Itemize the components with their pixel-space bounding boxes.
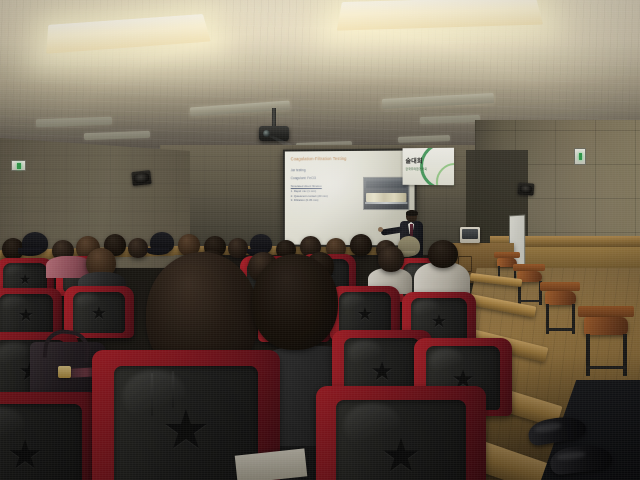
- slide-list-item-3: 3. Filtration (0.45 mm): [291, 198, 363, 202]
- handbag-clasp: [58, 366, 71, 378]
- seat-back-panel: ★: [339, 292, 391, 335]
- star-emblem: ★: [91, 304, 107, 322]
- presenter-hand: [378, 227, 383, 232]
- projector-lens-icon: [263, 130, 270, 137]
- presenter-hair: [406, 210, 418, 216]
- chair-rail: [546, 328, 575, 331]
- exit-sign-glow: [17, 163, 21, 169]
- presenter-tie: [410, 224, 413, 236]
- seat-back-panel: ★: [336, 400, 466, 480]
- projector-mount-pole: [272, 108, 276, 128]
- audience-member: [378, 246, 404, 272]
- emergency-exit-sign-right: [574, 148, 586, 165]
- lecture-hall-photo: Coagulation-Filtration Testing Jar testi…: [0, 0, 640, 480]
- chair-seat: [584, 317, 628, 335]
- slide-title-rule: [291, 162, 394, 163]
- emergency-exit-sign-left: [11, 160, 26, 171]
- chair-tablet-arm: [540, 282, 580, 291]
- wall-mounted-speaker-left: [131, 170, 151, 186]
- star-emblem: ★: [431, 312, 447, 330]
- wall-mounted-speaker-right: [518, 182, 535, 195]
- chair-leg: [623, 334, 627, 376]
- seat-back-panel: ★: [0, 404, 82, 480]
- audience-member: [350, 234, 372, 256]
- slide-photo-jars: [366, 193, 406, 202]
- star-emblem: ★: [19, 272, 32, 286]
- slide-list-header: Simulated direct filtration: [291, 184, 363, 188]
- chair-seat: [545, 291, 576, 305]
- slide-body: Jar testing Coagulant: FeCl3 Simulated d…: [291, 168, 363, 202]
- audience-member: [250, 234, 272, 254]
- audience-member: [22, 232, 48, 254]
- chair-rail: [518, 300, 541, 302]
- slide-title: Coagulation-Filtration Testing: [291, 156, 409, 162]
- chair-leg: [586, 334, 590, 376]
- banner-title: 술대회: [405, 156, 422, 165]
- auditorium-seat-foreground-left: ★: [0, 392, 100, 480]
- conference-banner: 술대회 한국우리환경학회: [403, 148, 455, 185]
- star-emblem: ★: [18, 306, 34, 324]
- seat-back-panel: ★: [0, 294, 53, 335]
- chair-tablet-arm: [513, 264, 545, 271]
- foreground-audience-member-2: [252, 254, 338, 350]
- slide-line-1: Jar testing: [291, 168, 363, 173]
- auditorium-seat-foreground-right: ★: [316, 386, 486, 480]
- audience-member: [128, 238, 148, 258]
- star-emblem: ★: [357, 305, 373, 323]
- slide-line-2: Coagulant: FeCl3: [291, 176, 363, 181]
- audience-member: [428, 240, 458, 268]
- audience-member: [228, 238, 248, 258]
- audience-member: [150, 232, 174, 253]
- chair-tablet-arm: [578, 306, 634, 317]
- exit-sign-glow: [579, 153, 582, 160]
- crt-monitor: [460, 227, 480, 243]
- slide-photo-apparatus-bar: [365, 202, 407, 204]
- star-emblem: ★: [370, 358, 393, 384]
- slide-photo-background: [366, 181, 406, 188]
- seat-back-panel: ★: [73, 292, 125, 333]
- chair-rail: [586, 366, 626, 369]
- star-emblem: ★: [7, 435, 43, 475]
- star-emblem: ★: [380, 432, 421, 478]
- star-emblem: ★: [162, 403, 210, 457]
- banner-subtitle: 한국우리환경학회: [405, 167, 427, 171]
